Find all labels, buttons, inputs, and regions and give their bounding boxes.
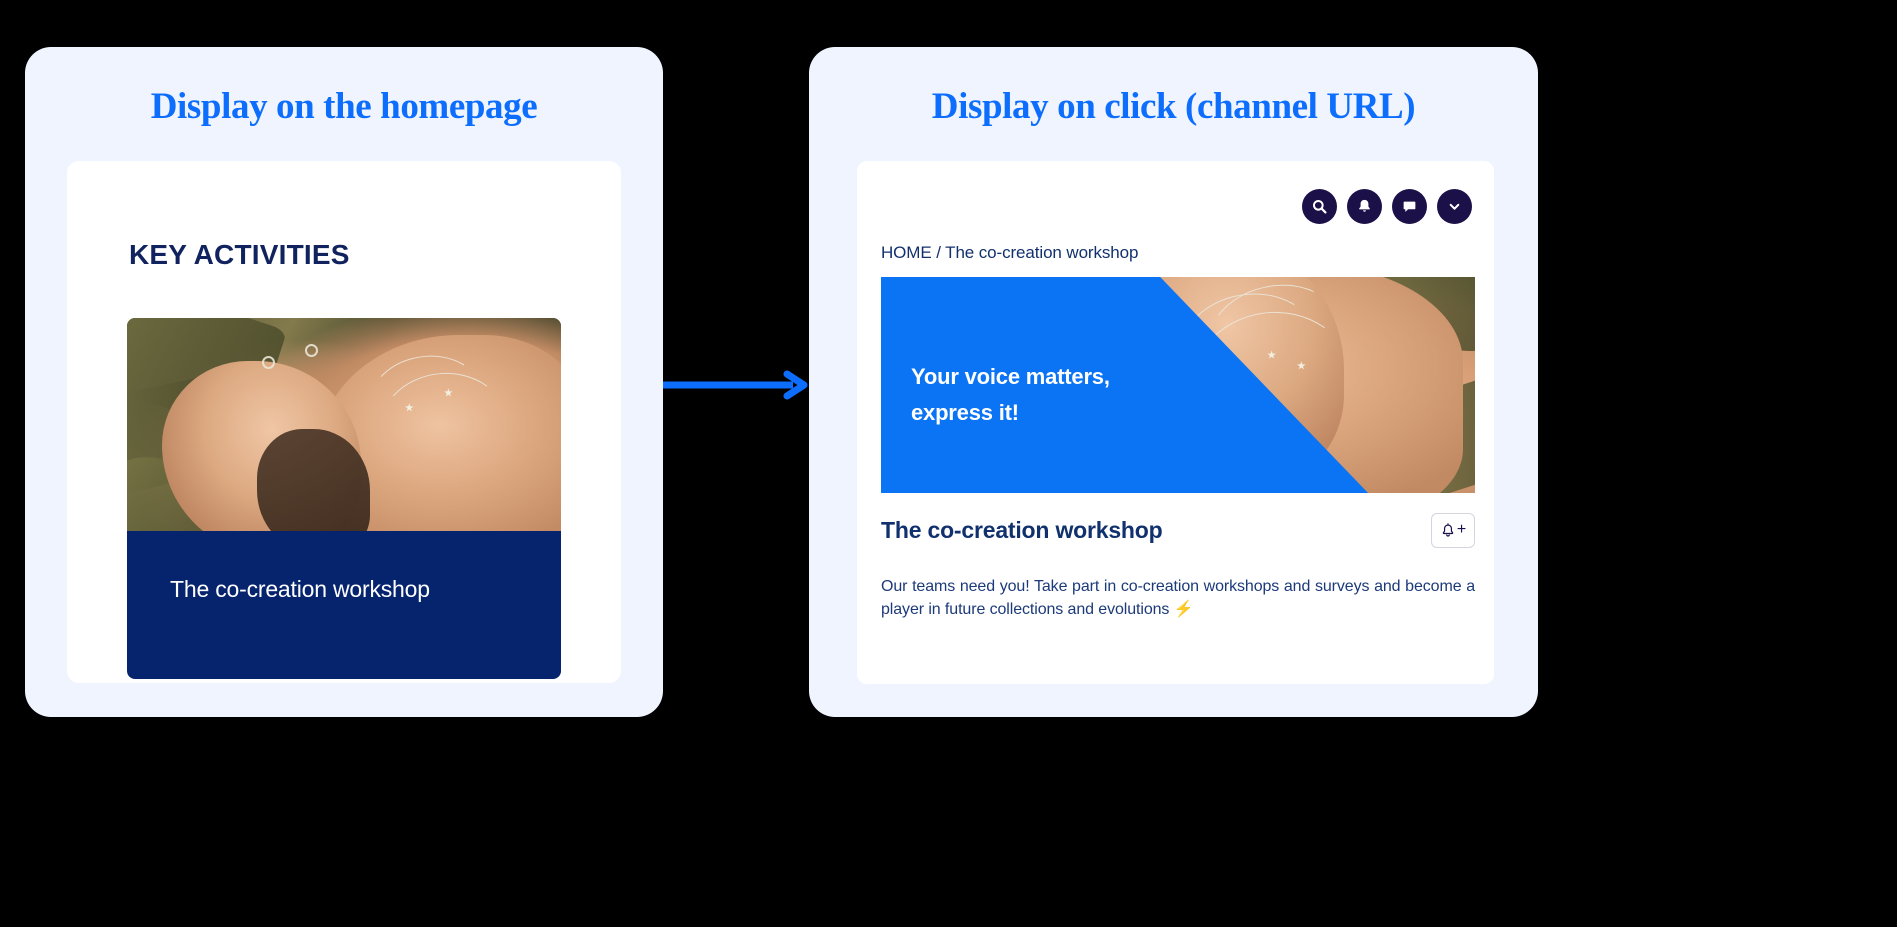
plus-icon: + [1457, 522, 1466, 538]
channel-title-row: The co-creation workshop + [881, 513, 1475, 548]
breadcrumb[interactable]: HOME / The co-creation workshop [881, 243, 1138, 263]
messages-icon[interactable] [1392, 189, 1427, 224]
left-panel: Display on the homepage KEY ACTIVITIES [25, 47, 663, 717]
hero-headline-line1: Your voice matters, [911, 359, 1110, 395]
activity-tile[interactable]: The co-creation workshop [127, 318, 561, 679]
activity-tile-photo [127, 318, 561, 531]
activity-tile-caption-text: The co-creation workshop [170, 576, 430, 603]
bell-icon [1440, 523, 1456, 539]
subscribe-bell-plus-button[interactable]: + [1431, 513, 1475, 548]
section-heading-key-activities: KEY ACTIVITIES [129, 239, 621, 271]
hero-headline-line2: express it! [911, 395, 1110, 431]
notification-bell-icon[interactable] [1347, 189, 1382, 224]
top-icon-bar [1302, 189, 1472, 224]
bolt-emoji-icon: ⚡ [1174, 601, 1194, 618]
necklace-photo [127, 318, 561, 531]
hero-headline: Your voice matters, express it! [911, 359, 1110, 430]
right-panel: Display on click (channel URL) [809, 47, 1538, 717]
homepage-preview-card: KEY ACTIVITIES [67, 161, 621, 683]
flow-arrow [663, 370, 809, 400]
channel-description: Our teams need you! Take part in co-crea… [881, 575, 1475, 621]
right-panel-title: Display on click (channel URL) [809, 85, 1538, 128]
left-panel-title: Display on the homepage [25, 85, 663, 128]
channel-page-card: HOME / The co-creation workshop [857, 161, 1494, 684]
screenshot-root: Display on the homepage KEY ACTIVITIES [0, 0, 1897, 927]
channel-title: The co-creation workshop [881, 517, 1162, 544]
activity-tile-caption: The co-creation workshop [127, 531, 561, 679]
chevron-down-icon[interactable] [1437, 189, 1472, 224]
search-icon[interactable] [1302, 189, 1337, 224]
channel-hero-banner: Your voice matters, express it! [881, 277, 1475, 493]
